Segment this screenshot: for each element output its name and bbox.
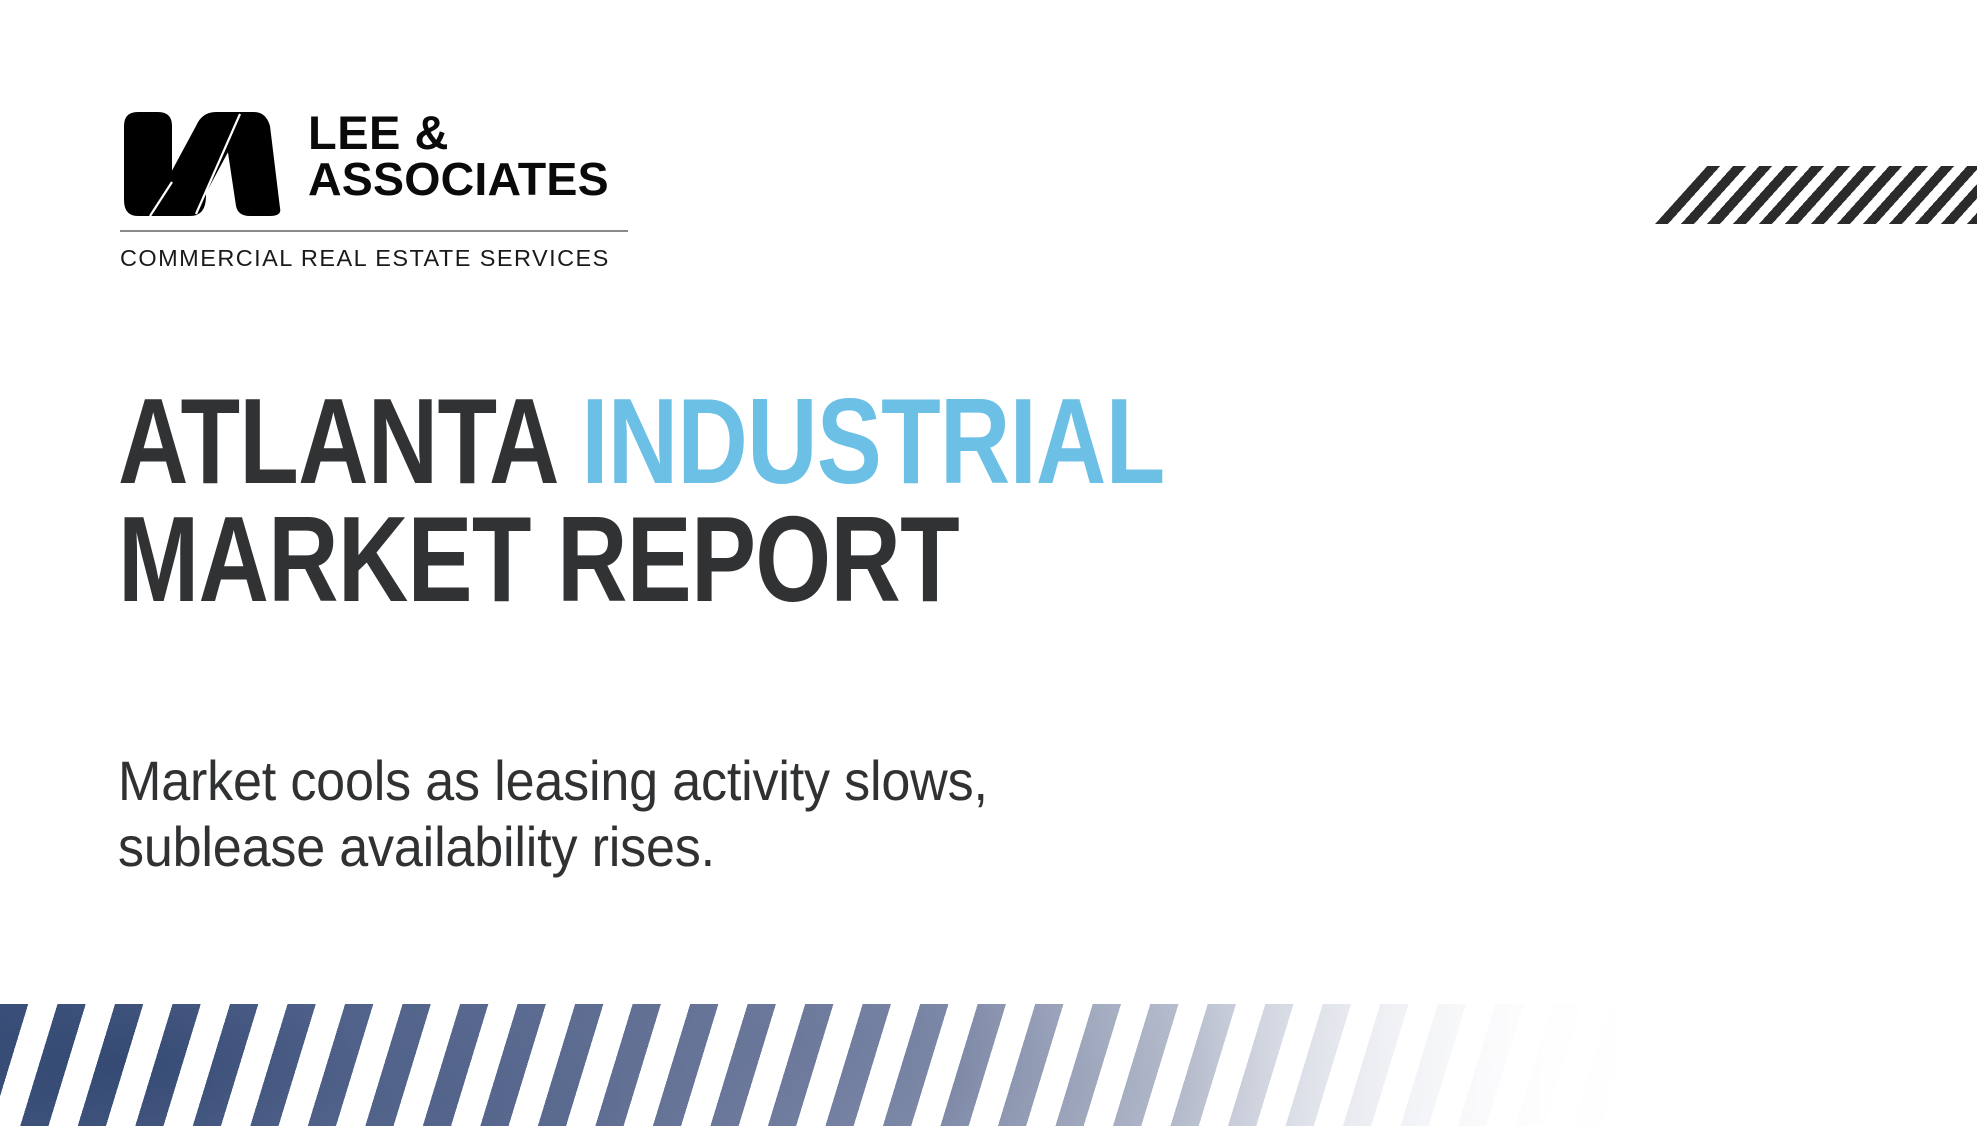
lee-associates-monogram-icon — [120, 108, 282, 220]
page-subtitle-line-2: sublease availability rises. — [118, 814, 1234, 880]
page-subtitle: Market cools as leasing activity slows, … — [118, 748, 1318, 880]
page-title-sector: INDUSTRIAL — [581, 373, 1164, 509]
brand-logo: LEE & ASSOCIATES COMMERCIAL REAL ESTATE … — [120, 108, 628, 272]
stripe-fade-overlay — [0, 1004, 1977, 1126]
logo-wordmark-line-1: LEE & — [308, 110, 609, 155]
page-title-line-2: MARKET REPORT — [118, 500, 1158, 618]
logo-wordmark: LEE & ASSOCIATES — [308, 108, 609, 202]
bottom-photo-stripe-band — [0, 1004, 1977, 1126]
page-title-line-1: ATLANTA INDUSTRIAL — [118, 382, 1158, 500]
logo-top-row: LEE & ASSOCIATES — [120, 108, 628, 220]
page-subtitle-line-1: Market cools as leasing activity slows, — [118, 748, 1234, 814]
page-title-city: ATLANTA — [118, 373, 555, 509]
logo-wordmark-line-2: ASSOCIATES — [308, 157, 609, 202]
logo-tagline: COMMERCIAL REAL ESTATE SERVICES — [120, 245, 628, 272]
page-title: ATLANTA INDUSTRIAL MARKET REPORT — [118, 382, 1418, 619]
logo-divider-rule — [120, 230, 628, 232]
top-right-diagonal-stripe-band — [1655, 166, 1977, 224]
report-cover-page: LEE & ASSOCIATES COMMERCIAL REAL ESTATE … — [0, 0, 1977, 1126]
